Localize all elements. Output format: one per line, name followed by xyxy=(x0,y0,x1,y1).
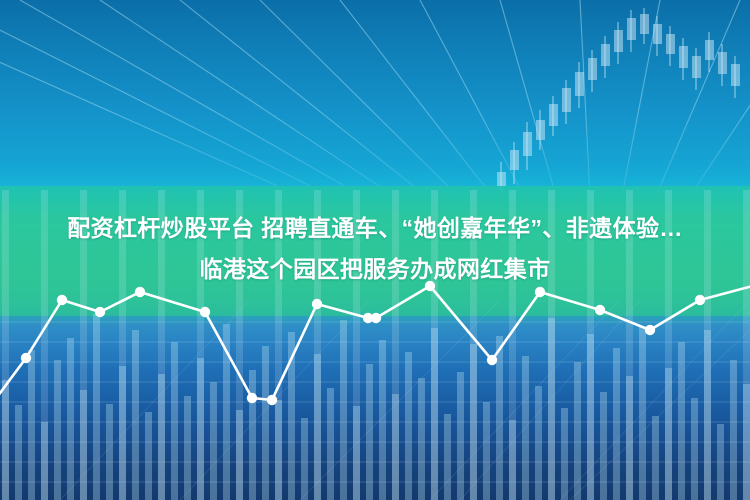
headline-line-2: 临港这个园区把服务办成网红集市 xyxy=(0,249,750,290)
finance-banner: 配资杠杆炒股平台 招聘直通车、“她创嘉年华”、非遗体验… 临港这个园区把服务办成… xyxy=(0,0,750,500)
headline-line-1: 配资杠杆炒股平台 招聘直通车、“她创嘉年华”、非遗体验… xyxy=(0,208,750,249)
line-chart-marker xyxy=(695,295,705,305)
line-chart-marker xyxy=(95,307,105,317)
line-chart-marker xyxy=(595,305,605,315)
line-chart-marker xyxy=(267,395,277,405)
line-chart-marker xyxy=(645,325,655,335)
line-chart-marker xyxy=(487,355,497,365)
headline: 配资杠杆炒股平台 招聘直通车、“她创嘉年华”、非遗体验… 临港这个园区把服务办成… xyxy=(0,208,750,290)
line-chart-marker xyxy=(247,393,257,403)
line-chart-marker xyxy=(312,299,322,309)
line-chart-marker xyxy=(371,313,381,323)
line-chart-marker xyxy=(200,307,210,317)
line-chart-marker xyxy=(21,353,31,363)
line-chart-marker xyxy=(57,295,67,305)
line-chart-path xyxy=(0,284,750,420)
